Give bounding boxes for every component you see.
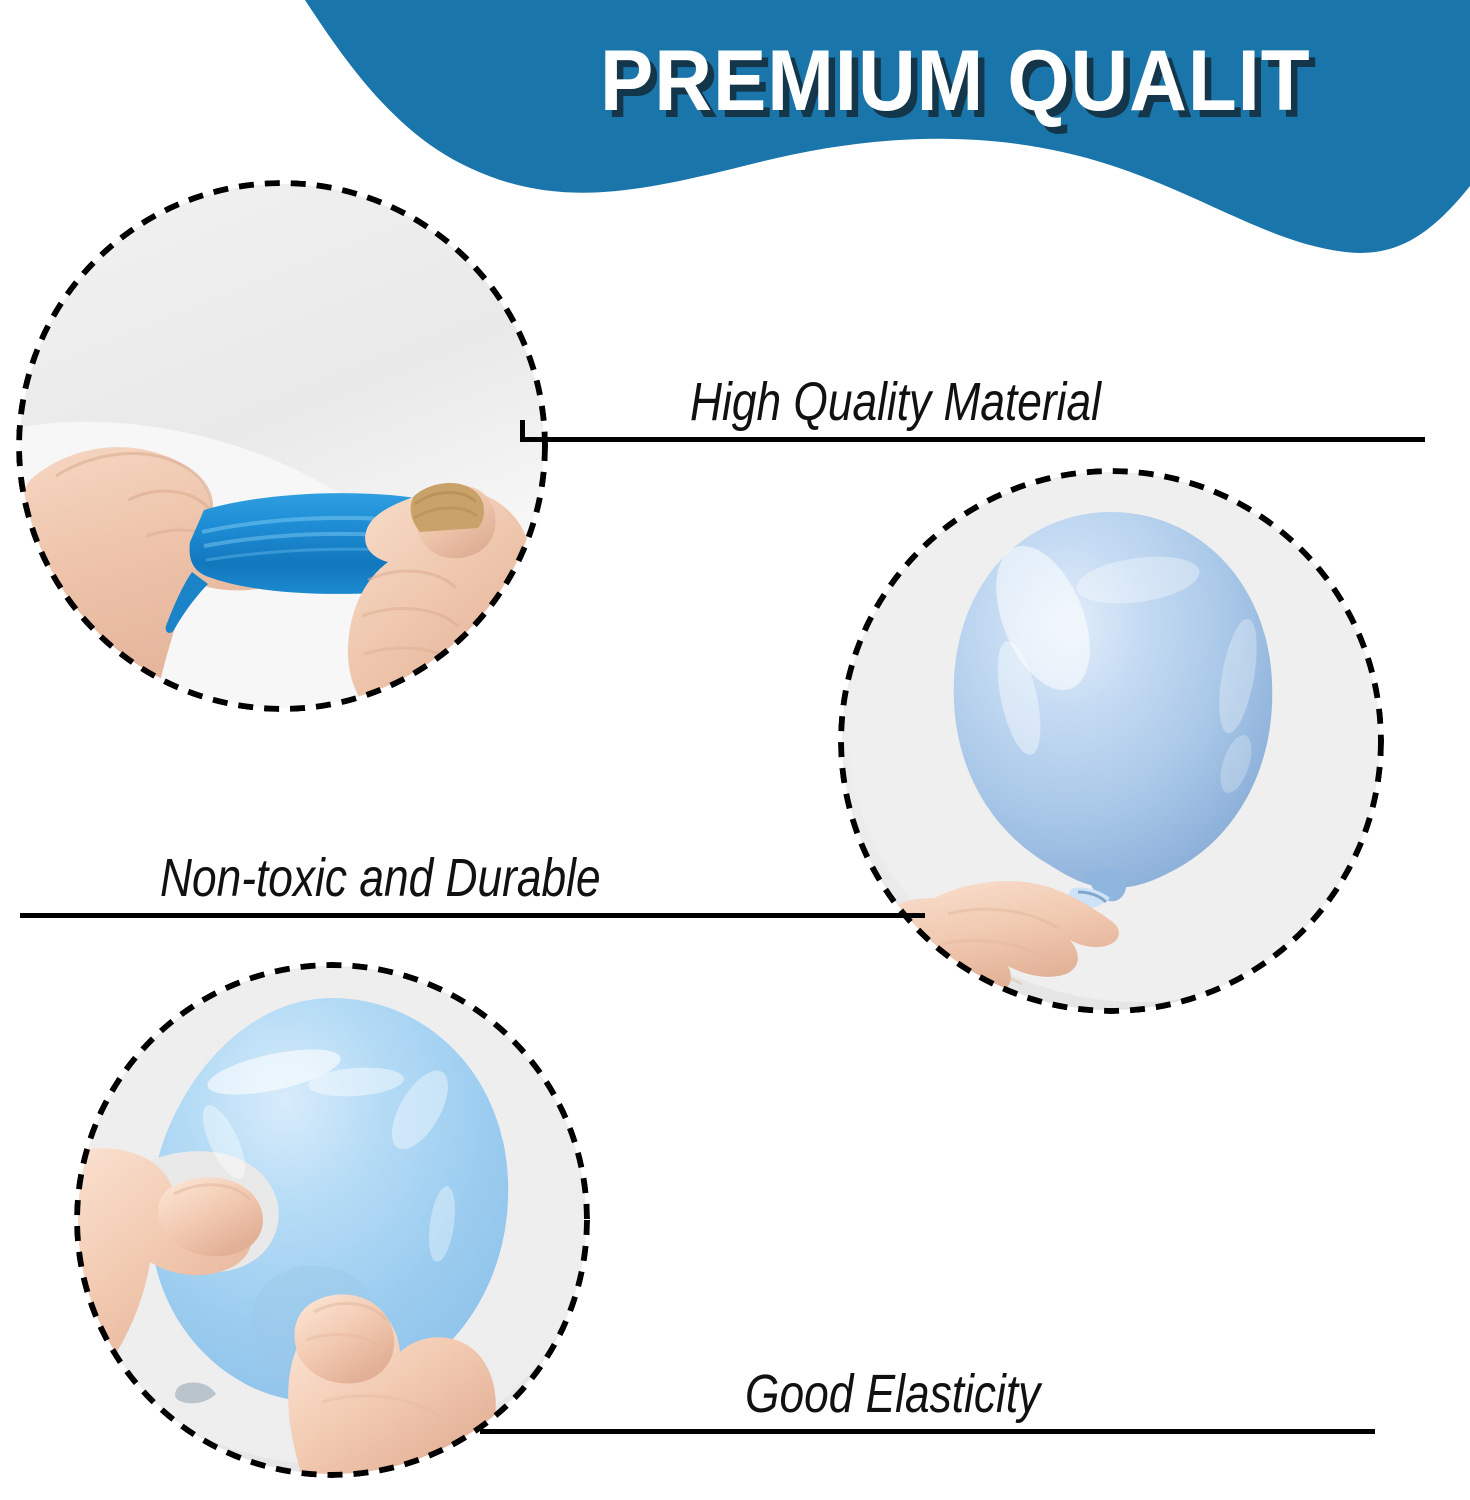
callout-rule bbox=[520, 437, 1425, 442]
callout-rule bbox=[480, 1429, 1375, 1434]
feature-photo-non-toxic-and-durable bbox=[838, 468, 1384, 1014]
product-feature-infographic: PREMIUM QUALIT bbox=[0, 0, 1470, 1500]
page-title: PREMIUM QUALIT bbox=[600, 28, 1437, 138]
hand-holding-inflated-balloon-illustration bbox=[838, 468, 1384, 1014]
callout-good-elasticity: Good Elasticity bbox=[480, 1348, 1375, 1434]
feature-label-high-quality-material: High Quality Material bbox=[690, 372, 1101, 432]
hands-stretching-balloon-illustration bbox=[16, 180, 548, 712]
hands-stretching-balloon-photo bbox=[16, 180, 548, 712]
feature-label-good-elasticity: Good Elasticity bbox=[745, 1364, 1040, 1424]
callout-non-toxic-and-durable: Non-toxic and Durable bbox=[20, 828, 925, 918]
callout-high-quality-material: High Quality Material bbox=[520, 352, 1425, 442]
hand-holding-inflated-balloon-photo bbox=[838, 468, 1384, 1014]
feature-label-non-toxic-and-durable: Non-toxic and Durable bbox=[160, 848, 601, 908]
feature-photo-high-quality-material bbox=[16, 180, 548, 712]
callout-rule bbox=[20, 913, 925, 918]
